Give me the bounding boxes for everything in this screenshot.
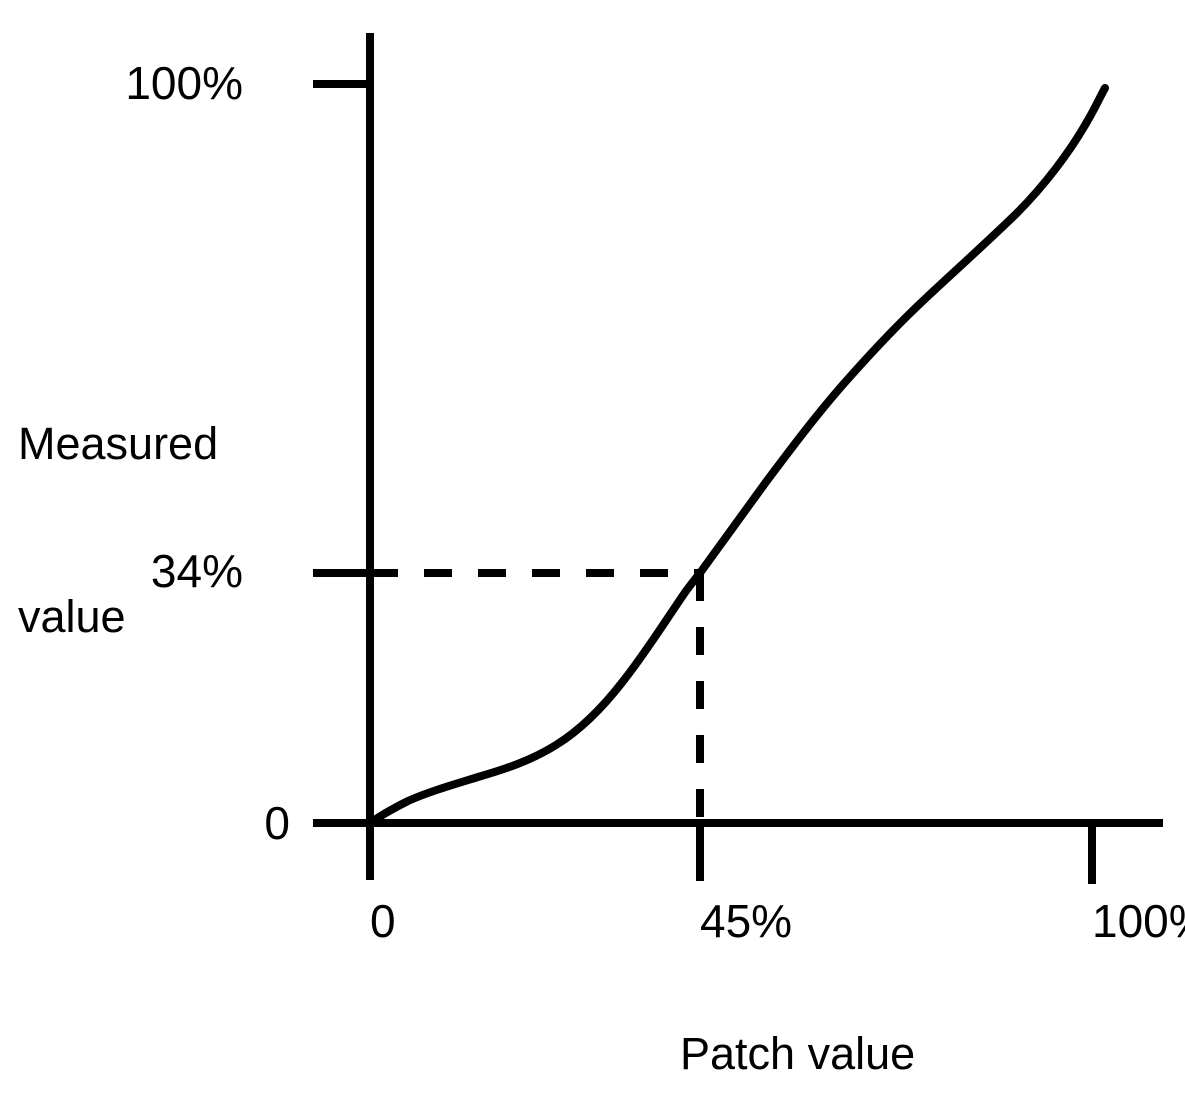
chart-figure: 100% 34% 0 Measured value 0 45% 100% Pat…: [0, 0, 1185, 1118]
y-axis-tick-label-0: 0: [264, 800, 290, 847]
y-axis-title-line-1: Measured: [18, 415, 218, 473]
y-axis-title-line-2: value: [18, 588, 218, 646]
y-axis-tick-label-100: 100%: [125, 60, 243, 107]
response-curve: [370, 88, 1105, 823]
y-axis-title: Measured value: [18, 300, 218, 761]
